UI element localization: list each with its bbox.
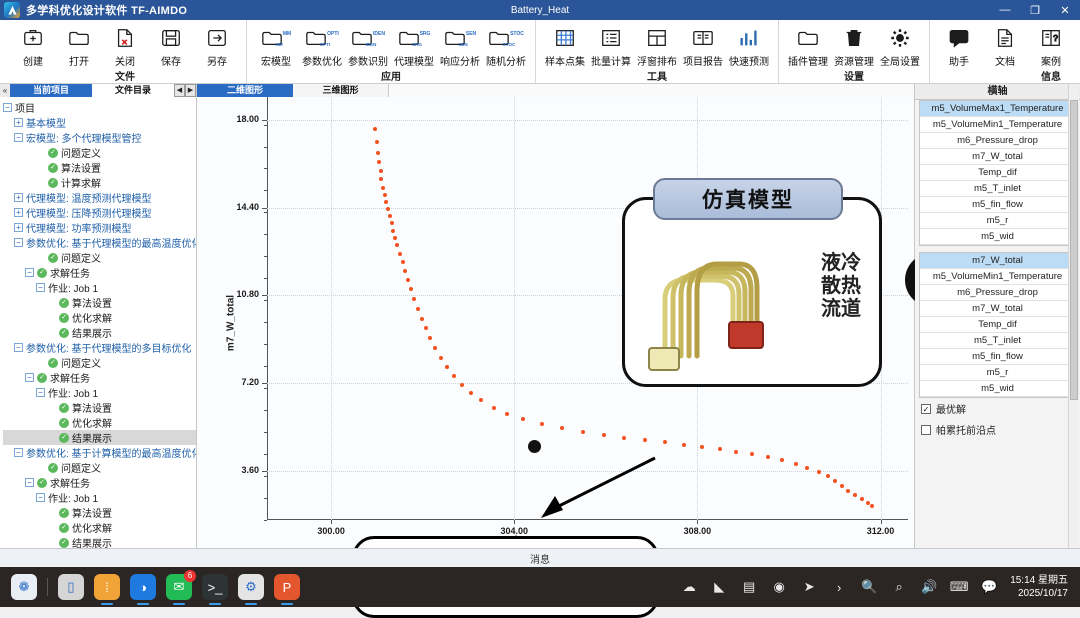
variable-option[interactable]: m5_VolumeMax1_Temperature [920, 101, 1075, 117]
collapse-icon[interactable]: − [14, 343, 23, 352]
window-controls: — ❐ ✕ [990, 0, 1080, 20]
y-minor-tick [264, 147, 267, 148]
data-point [853, 493, 857, 497]
tree-node-label: 参数优化: 基于计算模型的最高温度优化 [26, 445, 196, 460]
data-point [398, 252, 402, 256]
data-point [373, 127, 377, 131]
ribbon-button-保存[interactable]: 保存 [148, 23, 194, 68]
y-minor-tick [264, 168, 267, 169]
tray-ime-icon[interactable]: ⌨ [947, 575, 971, 599]
data-point [379, 169, 383, 173]
y-minor-tick [264, 366, 267, 367]
ribbon-button-样本点集[interactable]: 样本点集 [542, 23, 588, 68]
layout-icon [646, 25, 668, 51]
status-check-icon: ✓ [37, 478, 47, 488]
data-point [750, 452, 754, 456]
tree-node-label: 问题定义 [61, 250, 101, 265]
surrogate-icon: SRGSRG [398, 25, 431, 51]
taskbar-start-logo-icon[interactable]: ❁ [11, 574, 37, 600]
data-point [805, 466, 809, 470]
display-options: ✓最优解帕累托前沿点 [915, 398, 1080, 440]
tree-node[interactable]: +代理模型: 压降预测代理模型 [3, 205, 196, 220]
ribbon-icon-tag: MM [275, 42, 283, 47]
tree-node[interactable]: +基本模型 [3, 115, 196, 130]
identification-icon: IDENIDEN [351, 25, 385, 51]
tree-node-label: 基本模型 [26, 115, 66, 130]
tree-node-label: 宏模型: 多个代理模型管控 [26, 130, 142, 145]
taskbar-task-view-icon[interactable]: ▯ [58, 574, 84, 600]
app-logo-icon [4, 2, 20, 18]
x-axis-variable-list[interactable]: m5_VolumeMax1_Temperaturem5_VolumeMin1_T… [919, 100, 1076, 246]
y-minor-tick [264, 454, 267, 455]
ribbon-button-label: 另存 [207, 53, 227, 68]
ribbon-button-项目报告[interactable]: 项目报告 [680, 23, 726, 68]
tab-nav-arrows: ◀ ▶ [174, 84, 196, 97]
data-point [460, 383, 464, 387]
variable-option[interactable]: m6_Pressure_drop [920, 285, 1075, 301]
tree-node-label: 代理模型: 温度预测代理模型 [26, 190, 152, 205]
chart-bars-icon [738, 25, 760, 51]
ribbon-button-宏模型[interactable]: MMMM宏模型 [253, 23, 299, 68]
status-check-icon: ✓ [48, 163, 58, 173]
running-indicator [101, 603, 113, 605]
x-gridline [331, 97, 332, 520]
y-tick-mark [262, 208, 267, 209]
ribbon-icon-tag: SRG [412, 42, 422, 47]
y-minor-tick [264, 432, 267, 433]
tree-node[interactable]: ✓算法设置 [3, 400, 196, 415]
tree-node[interactable]: ✓问题定义 [3, 145, 196, 160]
y-tick-mark [262, 471, 267, 472]
tree-node[interactable]: ✓结果展示 [3, 430, 196, 445]
tray-notification-icon[interactable]: 💬 [977, 575, 1001, 599]
ribbon-button-随机分析[interactable]: STOCSTOC随机分析 [483, 23, 529, 68]
ribbon-icon-tag: IDEN [366, 42, 377, 47]
tree-node[interactable]: −参数优化: 基于代理模型的最高温度优化 [3, 235, 196, 250]
data-point [401, 260, 405, 264]
y-tick-label: 14.40 [213, 202, 259, 212]
tree-node-label: 求解任务 [50, 475, 90, 490]
y-minor-tick [264, 388, 267, 389]
ribbon-button-label: 案例 [1041, 53, 1061, 68]
tree-node[interactable]: +代理模型: 温度预测代理模型 [3, 190, 196, 205]
tray-cloud-icon[interactable]: ☁ [677, 575, 701, 599]
collapse-icon[interactable]: − [25, 373, 34, 382]
data-point [866, 501, 870, 505]
taskbar-terminal-icon[interactable]: >_ [202, 574, 228, 600]
status-check-icon: ✓ [48, 178, 58, 188]
tree-node[interactable]: ✓问题定义 [3, 355, 196, 370]
display-option-label: 帕累托前沿点 [936, 422, 996, 437]
tree-node[interactable]: −宏模型: 多个代理模型管控 [3, 130, 196, 145]
data-point [492, 406, 496, 410]
ribbon-button-label: 快速预测 [729, 53, 769, 68]
tree-node-label: 优化求解 [72, 415, 112, 430]
axis-selector-panel: 横轴 m5_VolumeMax1_Temperaturem5_VolumeMin… [915, 84, 1080, 548]
x-tick-mark [881, 520, 882, 524]
ribbon-button-案例[interactable]: ?案例 [1028, 23, 1074, 68]
open-folder-icon [68, 25, 90, 51]
ribbon-button-打开[interactable]: 打开 [56, 23, 102, 68]
data-point [406, 278, 410, 282]
status-check-icon: ✓ [48, 148, 58, 158]
running-indicator [173, 603, 185, 605]
tree-node[interactable]: +代理模型: 功率预测模型 [3, 220, 196, 235]
plugin-folder-icon [797, 25, 819, 51]
close-button[interactable]: ✕ [1050, 0, 1080, 20]
expand-icon[interactable]: + [14, 193, 23, 202]
checkbox-icon[interactable]: ✓ [921, 404, 931, 414]
ribbon-button-快速预测[interactable]: 快速预测 [726, 23, 772, 68]
variable-option[interactable]: m5_T_inlet [920, 333, 1075, 349]
save-icon [160, 25, 182, 51]
ribbon-button-label: 插件管理 [788, 53, 828, 68]
ribbon-button-关闭[interactable]: 关闭 [102, 23, 148, 68]
variable-option[interactable]: m5_r [920, 213, 1075, 229]
tree-node[interactable]: −参数优化: 基于计算模型的最高温度优化 [3, 445, 196, 460]
ribbon-group-name: 设置 [844, 68, 864, 85]
data-point [388, 214, 392, 218]
ribbon-button-全局设置[interactable]: 全局设置 [877, 23, 923, 68]
collapse-icon[interactable]: − [3, 103, 12, 112]
simulation-model-description: 液冷 散热 流道 [821, 252, 861, 321]
status-check-icon: ✓ [59, 508, 69, 518]
data-point [428, 336, 432, 340]
tree-node[interactable]: −项目 [3, 100, 196, 115]
taskbar-clock[interactable]: 15:14 星期五2025/10/17 [1010, 574, 1074, 600]
variable-option[interactable]: m7_W_total [920, 253, 1075, 269]
tree-node-label: 代理模型: 功率预测模型 [26, 220, 132, 235]
ribbon-button-label: 文档 [995, 53, 1015, 68]
tree-node-label: 代理模型: 压降预测代理模型 [26, 205, 152, 220]
left-panel-tabs: « 当前项目 文件目录 ◀ ▶ [0, 84, 196, 97]
tree-node[interactable]: −✓求解任务 [3, 370, 196, 385]
tree-node-label: 计算求解 [61, 175, 101, 190]
data-point [424, 326, 428, 330]
tab-2d-plot[interactable]: 二维图形 [197, 84, 293, 97]
y-gridline [267, 120, 908, 121]
ribbon-button-label: 关闭 [115, 53, 135, 68]
ribbon-group-信息: AI助手文档?案例?帮助关于信息 [930, 20, 1080, 83]
data-point [700, 445, 704, 449]
data-point [794, 462, 798, 466]
y-minor-tick [264, 234, 267, 235]
y-minor-tick [264, 498, 267, 499]
data-point [391, 229, 395, 233]
ribbon-group-name: 工具 [647, 68, 667, 85]
tree-node[interactable]: ✓问题定义 [3, 250, 196, 265]
display-option-row[interactable]: 帕累托前沿点 [915, 419, 1080, 440]
ribbon-button-label: 打开 [69, 53, 89, 68]
y-tick-mark [262, 295, 267, 296]
y-minor-tick [264, 190, 267, 191]
ribbon-button-label: 创建 [23, 53, 43, 68]
axis-panel-header: 横轴 [915, 84, 1080, 100]
tree-node[interactable]: −作业: Job 1 [3, 280, 196, 295]
data-point [817, 470, 821, 474]
tray-search-icon[interactable]: 🔍 [857, 575, 881, 599]
tree-node[interactable]: ✓算法设置 [3, 160, 196, 175]
project-tree-panel: « 当前项目 文件目录 ◀ ▶ −项目+基本模型−宏模型: 多个代理模型管控✓问… [0, 84, 197, 548]
data-point [581, 430, 585, 434]
collapse-icon[interactable]: − [25, 268, 34, 277]
y-minor-tick [264, 322, 267, 323]
variable-option[interactable]: m5_VolumeMin1_Temperature [920, 117, 1075, 133]
ribbon-icon-tag: OPTI [320, 42, 331, 47]
variable-option[interactable]: m7_W_total [920, 301, 1075, 317]
ribbon-group-buttons: 样本点集批量计算浮窗排布项目报告快速预测 [542, 20, 772, 68]
taskbar-powerpoint-icon[interactable]: P [274, 574, 300, 600]
checkbox-icon[interactable] [921, 425, 931, 435]
tray-send-icon[interactable]: ➤ [797, 575, 821, 599]
expand-icon[interactable]: + [14, 223, 23, 232]
collapse-icon[interactable]: − [14, 133, 23, 142]
ribbon-button-浮窗排布[interactable]: 浮窗排布 [634, 23, 680, 68]
y-minor-tick [264, 256, 267, 257]
x-tick-label: 312.00 [859, 526, 903, 536]
tree-node[interactable]: ✓问题定义 [3, 460, 196, 475]
display-option-label: 最优解 [936, 401, 966, 416]
y-minor-tick [264, 212, 267, 213]
ribbon-button-label: 参数识别 [348, 53, 388, 68]
document-icon [994, 25, 1016, 51]
tree-node[interactable]: −参数优化: 基于代理模型的多目标优化 [3, 340, 196, 355]
variable-option[interactable]: m5_fin_flow [920, 197, 1075, 213]
ribbon-button-参数优化[interactable]: OPTIOPTI参数优化 [299, 23, 345, 68]
collapse-icon[interactable]: − [25, 478, 34, 487]
data-point [833, 479, 837, 483]
tree-node-label: 算法设置 [72, 505, 112, 520]
ribbon-button-助手[interactable]: AI助手 [936, 23, 982, 68]
data-point [766, 455, 770, 459]
tray-clipboard-icon[interactable]: ▤ [737, 575, 761, 599]
data-point [521, 417, 525, 421]
ribbon-group-文件: 创建打开关闭保存另存文件 [4, 20, 247, 83]
ribbon-button-label: 保存 [161, 53, 181, 68]
variable-option[interactable]: m6_Pressure_drop [920, 133, 1075, 149]
collapse-icon[interactable]: − [36, 388, 45, 397]
chart-panel: 二维图形 三维图形 m7_W_total m5_VolumeMax1_Tempe… [197, 84, 915, 548]
data-point [439, 356, 443, 360]
y-minor-tick [264, 278, 267, 279]
simulation-model-box: 仿真模型 液冷 散热 流道 [622, 197, 882, 387]
status-message: 消息 [530, 551, 550, 566]
tree-node-label: 算法设置 [72, 400, 112, 415]
trash-icon [843, 25, 865, 51]
ribbon-button-插件管理[interactable]: 插件管理 [785, 23, 831, 68]
right-panel-scrollbar[interactable] [1068, 84, 1079, 548]
ribbon-group-name: 应用 [381, 68, 401, 85]
tree-node[interactable]: −✓求解任务 [3, 265, 196, 280]
taskbar-separator [47, 578, 48, 596]
stochastic-icon: STOCSTOC [488, 25, 524, 51]
data-point [734, 450, 738, 454]
x-tick-mark [331, 520, 332, 524]
restore-button[interactable]: ❐ [1020, 0, 1050, 20]
collapse-panel-icon[interactable]: « [0, 86, 10, 95]
ribbon-button-创建[interactable]: 创建 [10, 23, 56, 68]
tab-current-project[interactable]: 当前项目 [10, 84, 92, 97]
collapse-icon[interactable]: − [36, 493, 45, 502]
ribbon-button-另存[interactable]: 另存 [194, 23, 240, 68]
project-tree: −项目+基本模型−宏模型: 多个代理模型管控✓问题定义✓算法设置✓计算求解+代理… [0, 97, 196, 548]
taskbar: ❁▯⁞◑✉6>_⚙P☁◣▤◉➤›🔍⌕🔊⌨💬15:14 星期五2025/10/17 [0, 567, 1080, 607]
data-point [375, 140, 379, 144]
ribbon-toolbar: 创建打开关闭保存另存文件MMMM宏模型OPTIOPTI参数优化IDENIDEN参… [0, 20, 1080, 84]
nav-next-icon[interactable]: ▶ [185, 84, 196, 97]
tree-node[interactable]: −✓求解任务 [3, 475, 196, 490]
x-tick-mark [514, 520, 515, 524]
collapse-icon[interactable]: − [36, 283, 45, 292]
ribbon-group-buttons: MMMM宏模型OPTIOPTI参数优化IDENIDEN参数识别SRGSRG代理模… [253, 20, 529, 68]
variable-option[interactable]: m5_r [920, 365, 1075, 381]
data-point [469, 391, 473, 395]
taskbar-wechat-icon[interactable]: ✉6 [166, 574, 192, 600]
y-minor-tick [264, 476, 267, 477]
tray-weather-icon[interactable]: ◣ [707, 575, 731, 599]
annotation-arrow [537, 452, 662, 520]
ribbon-group-buttons: 插件管理资源管理全局设置 [785, 20, 923, 68]
svg-text:?: ? [1053, 34, 1058, 43]
y-minor-tick [264, 344, 267, 345]
taskbar-app-orange-icon[interactable]: ⁞ [94, 574, 120, 600]
status-check-icon: ✓ [59, 313, 69, 323]
ribbon-button-label: 参数优化 [302, 53, 342, 68]
tree-node-label: 求解任务 [50, 265, 90, 280]
ribbon-button-响应分析[interactable]: SENSEN响应分析 [437, 23, 483, 68]
y-tick-label: 10.80 [213, 289, 259, 299]
tree-node[interactable]: −作业: Job 1 [3, 490, 196, 505]
data-point [403, 269, 407, 273]
ribbon-button-label: 批量计算 [591, 53, 631, 68]
data-point [663, 440, 667, 444]
variable-option[interactable]: m5_wid [920, 381, 1075, 397]
y-tick-label: 18.00 [213, 114, 259, 124]
tree-node-label: 结果展示 [72, 535, 112, 548]
data-point [452, 374, 456, 378]
x-gridline [514, 97, 515, 520]
y-minor-tick [264, 125, 267, 126]
ribbon-button-label: 样本点集 [545, 53, 585, 68]
variable-option[interactable]: m5_wid [920, 229, 1075, 245]
tree-node[interactable]: ✓优化求解 [3, 415, 196, 430]
minimize-button[interactable]: — [990, 0, 1020, 20]
new-file-icon [22, 25, 44, 51]
status-check-icon: ✓ [59, 298, 69, 308]
tree-node[interactable]: ✓算法设置 [3, 505, 196, 520]
ribbon-button-帮助[interactable]: ?帮助 [1074, 23, 1080, 68]
batch-list-icon [600, 25, 622, 51]
ribbon-group-应用: MMMM宏模型OPTIOPTI参数优化IDENIDEN参数识别SRGSRG代理模… [247, 20, 536, 83]
app-title: 多学科优化设计软件 TF-AIMDO [26, 2, 187, 18]
status-bar: 消息 [0, 548, 1080, 567]
display-option-row[interactable]: ✓最优解 [915, 398, 1080, 419]
variable-option[interactable]: m5_fin_flow [920, 349, 1075, 365]
variable-option[interactable]: m7_W_total [920, 149, 1075, 165]
data-point [479, 398, 483, 402]
tray-overflow-chevron-icon[interactable]: › [827, 575, 851, 599]
ribbon-button-文档[interactable]: 文档 [982, 23, 1028, 68]
variable-option[interactable]: m5_VolumeMin1_Temperature [920, 269, 1075, 285]
tray-network-icon[interactable]: ⌕ [887, 575, 911, 599]
ribbon-button-label: 助手 [949, 53, 969, 68]
ribbon-group-name: 文件 [115, 68, 135, 85]
status-check-icon: ✓ [37, 373, 47, 383]
y-tick-label: 3.60 [213, 465, 259, 475]
title-bar: 多学科优化设计软件 TF-AIMDO Battery_Heat — ❐ ✕ [0, 0, 1080, 20]
svg-text:AI: AI [955, 32, 962, 41]
data-point [409, 287, 413, 291]
y-tick-mark [262, 383, 267, 384]
y-axis-label: m7_W_total [226, 294, 237, 350]
report-icon [692, 25, 714, 51]
tree-node[interactable]: ✓优化求解 [3, 520, 196, 535]
ribbon-button-批量计算[interactable]: 批量计算 [588, 23, 634, 68]
tree-node[interactable]: ✓优化求解 [3, 310, 196, 325]
data-point [381, 186, 385, 190]
tree-node[interactable]: ✓算法设置 [3, 295, 196, 310]
ribbon-group-buttons: AI助手文档?案例?帮助关于 [936, 20, 1080, 68]
ribbon-button-资源管理[interactable]: 资源管理 [831, 23, 877, 68]
tray-camera-icon[interactable]: ◉ [767, 575, 791, 599]
optimization-icon: OPTIOPTI [305, 25, 339, 51]
nav-prev-icon[interactable]: ◀ [174, 84, 185, 97]
ribbon-button-代理模型[interactable]: SRGSRG代理模型 [391, 23, 437, 68]
status-check-icon: ✓ [48, 253, 58, 263]
clock-time: 15:14 星期五 [1010, 574, 1068, 587]
collapse-icon[interactable]: − [14, 238, 23, 247]
tray-volume-icon[interactable]: 🔊 [917, 575, 941, 599]
status-check-icon: ✓ [37, 268, 47, 278]
y-axis-variable-list[interactable]: m7_W_totalm5_VolumeMin1_Temperaturem6_Pr… [919, 252, 1076, 398]
tree-node[interactable]: ✓计算求解 [3, 175, 196, 190]
tab-file-directory[interactable]: 文件目录 [92, 84, 174, 97]
data-point [377, 160, 381, 164]
ribbon-group-name: 信息 [1041, 68, 1061, 85]
data-point [846, 489, 850, 493]
running-indicator [281, 603, 293, 605]
variable-option[interactable]: Temp_dif [920, 317, 1075, 333]
variable-option[interactable]: m5_T_inlet [920, 181, 1075, 197]
tree-node-label: 参数优化: 基于代理模型的多目标优化 [26, 340, 192, 355]
data-point [445, 365, 449, 369]
taskbar-browser-icon[interactable]: ◑ [130, 574, 156, 600]
tab-3d-plot[interactable]: 三维图形 [293, 84, 389, 97]
ribbon-button-参数识别[interactable]: IDENIDEN参数识别 [345, 23, 391, 68]
tree-node-label: 结果展示 [72, 325, 112, 340]
scrollbar-thumb[interactable] [1070, 100, 1078, 400]
expand-icon[interactable]: + [14, 118, 23, 127]
collapse-icon[interactable]: − [14, 448, 23, 457]
status-check-icon: ✓ [59, 403, 69, 413]
ribbon-button-label: 宏模型 [261, 53, 291, 68]
tree-node-label: 问题定义 [61, 355, 101, 370]
status-check-icon: ✓ [59, 433, 69, 443]
data-point [780, 458, 784, 462]
close-file-icon [114, 25, 136, 51]
data-point [384, 200, 388, 204]
tree-node[interactable]: ✓结果展示 [3, 325, 196, 340]
taskbar-settings-icon[interactable]: ⚙ [238, 574, 264, 600]
tree-node-label: 问题定义 [61, 460, 101, 475]
clock-date: 2025/10/17 [1010, 587, 1068, 600]
tree-node[interactable]: ✓结果展示 [3, 535, 196, 548]
tree-node[interactable]: −作业: Job 1 [3, 385, 196, 400]
variable-option[interactable]: Temp_dif [920, 165, 1075, 181]
y-tick-mark [262, 120, 267, 121]
tree-node-label: 结果展示 [72, 430, 112, 445]
expand-icon[interactable]: + [14, 208, 23, 217]
